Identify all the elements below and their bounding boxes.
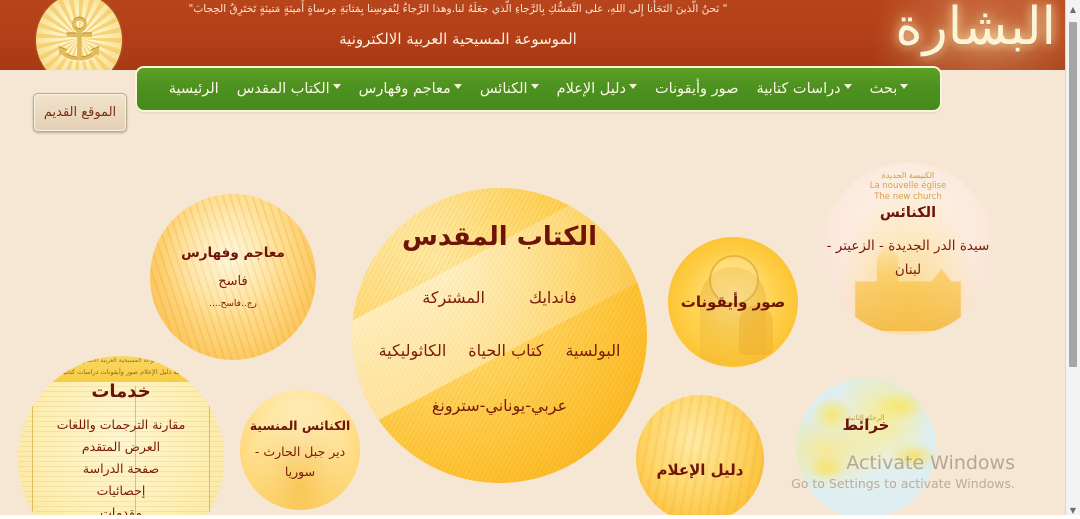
- bubble-lexicons-title: معاجم وفهارس: [181, 245, 285, 261]
- nav-item-3[interactable]: الكنائس: [478, 79, 541, 99]
- bubble-services-title: خدمات: [91, 381, 150, 402]
- nav-item-label: معاجم وفهارس: [359, 81, 451, 97]
- nav-item-0[interactable]: الرئيسية: [167, 79, 221, 99]
- bubble-maps[interactable]: الرحلة الثانية خرائط: [796, 378, 936, 518]
- bubble-maps-title: خرائط: [843, 416, 890, 434]
- scroll-up-arrow-icon[interactable]: ▲: [1066, 2, 1080, 16]
- scrollbar-thumb[interactable]: [1069, 22, 1077, 367]
- nav-item-1[interactable]: الكتاب المقدس: [235, 79, 343, 99]
- bible-version-link[interactable]: فاندايك: [529, 288, 577, 307]
- chevron-down-icon: [333, 84, 341, 89]
- bubble-media-guide[interactable]: دليل الإعلام: [636, 395, 764, 519]
- bible-version-link[interactable]: البولسية: [565, 341, 620, 360]
- nav-item-label: دراسات كتابية: [756, 81, 840, 97]
- bible-versions-row-2: الكاثوليكية كتاب الحياة البولسية: [352, 341, 647, 360]
- nav-item-4[interactable]: دليل الإعلام: [555, 79, 639, 99]
- bubble-images-and-icons[interactable]: صور وأيقونات: [668, 237, 798, 367]
- services-item[interactable]: العرض المتقدم: [82, 436, 160, 458]
- browser-page: ⚓ " نَحنُ الَّذينَ التَجَأْنا إِلى اللهِ…: [0, 0, 1080, 519]
- bubble-forgotten-title: الكنائس المنسية: [250, 418, 351, 433]
- bubble-services[interactable]: الموسوعة المسيحية العربية الالكترونية ال…: [18, 356, 224, 519]
- nav-item-label: الرئيسية: [169, 81, 219, 97]
- bubble-churches-title: الكنائس: [880, 205, 936, 221]
- chevron-down-icon: [900, 84, 908, 89]
- bubble-media-title: دليل الإعلام: [657, 461, 744, 479]
- bubble-bible-title: الكتاب المقدس: [402, 222, 597, 252]
- chevron-down-icon: [531, 84, 539, 89]
- bubble-lexicons-link[interactable]: فاسح: [218, 274, 247, 289]
- bible-version-link[interactable]: المشتركة: [422, 288, 485, 307]
- window-bottom-edge: [0, 515, 1080, 519]
- page-scrollbar[interactable]: ▲ ▼: [1065, 0, 1080, 519]
- bubble-forgotten-churches[interactable]: الكنائس المنسية دير جبل الحارث - سوريا: [240, 390, 360, 510]
- bubble-forgotten-link[interactable]: دير جبل الحارث - سوريا: [240, 442, 360, 482]
- bubble-lexicons-sub[interactable]: رج..فاسح....: [209, 299, 257, 309]
- main-navigation[interactable]: الرئيسيةالكتاب المقدسمعاجم وفهارسالكنائس…: [137, 68, 940, 110]
- legacy-site-button[interactable]: الموقع القديم: [33, 93, 127, 132]
- services-item[interactable]: صفحة الدراسة: [83, 458, 159, 480]
- nav-item-label: صور وأيقونات: [655, 81, 738, 97]
- nav-item-label: الكتاب المقدس: [237, 81, 330, 97]
- chevron-down-icon: [844, 84, 852, 89]
- services-item[interactable]: إحصائيات: [97, 480, 146, 502]
- nav-item-7[interactable]: بحث: [868, 79, 911, 99]
- services-item[interactable]: مقارنة الترجمات واللغات: [57, 414, 186, 436]
- chevron-down-icon: [454, 84, 462, 89]
- site-subtitle: الموسوعة المسيحية العربية الالكترونية: [0, 30, 916, 48]
- header-verse: " نَحنُ الَّذينَ التَجَأْنا إِلى اللهِ، …: [0, 3, 916, 15]
- site-header: ⚓ " نَحنُ الَّذينَ التَجَأْنا إِلى اللهِ…: [0, 0, 1066, 70]
- nav-item-label: بحث: [870, 81, 898, 97]
- chevron-down-icon: [629, 84, 637, 89]
- site-brand-title: البشارة: [895, 0, 1056, 58]
- bubble-churches-link[interactable]: سيدة الدر الجديدة - الزعيتر - لبنان: [822, 234, 994, 282]
- nav-item-6[interactable]: دراسات كتابية: [754, 79, 853, 99]
- bible-version-link[interactable]: الكاثوليكية: [379, 341, 447, 360]
- bubble-lexicons[interactable]: معاجم وفهارس فاسح رج..فاسح....: [150, 194, 316, 360]
- bible-versions-row-1: المشتركة فاندايك: [352, 288, 647, 307]
- bible-version-link[interactable]: كتاب الحياة: [468, 341, 543, 360]
- bible-interlinear-link[interactable]: عربي-يوناني-سترونغ: [432, 396, 567, 415]
- nav-item-2[interactable]: معاجم وفهارس: [357, 79, 464, 99]
- bubble-bible[interactable]: الكتاب المقدس المشتركة فاندايك الكاثوليك…: [352, 188, 647, 483]
- nav-item-label: الكنائس: [480, 81, 528, 97]
- nav-item-5[interactable]: صور وأيقونات: [653, 79, 740, 99]
- bubble-churches[interactable]: الكنيسة الجديدة La nouvelle église The n…: [822, 163, 994, 335]
- nav-item-label: دليل الإعلام: [557, 81, 626, 97]
- bubble-icons-title: صور وأيقونات: [681, 293, 785, 311]
